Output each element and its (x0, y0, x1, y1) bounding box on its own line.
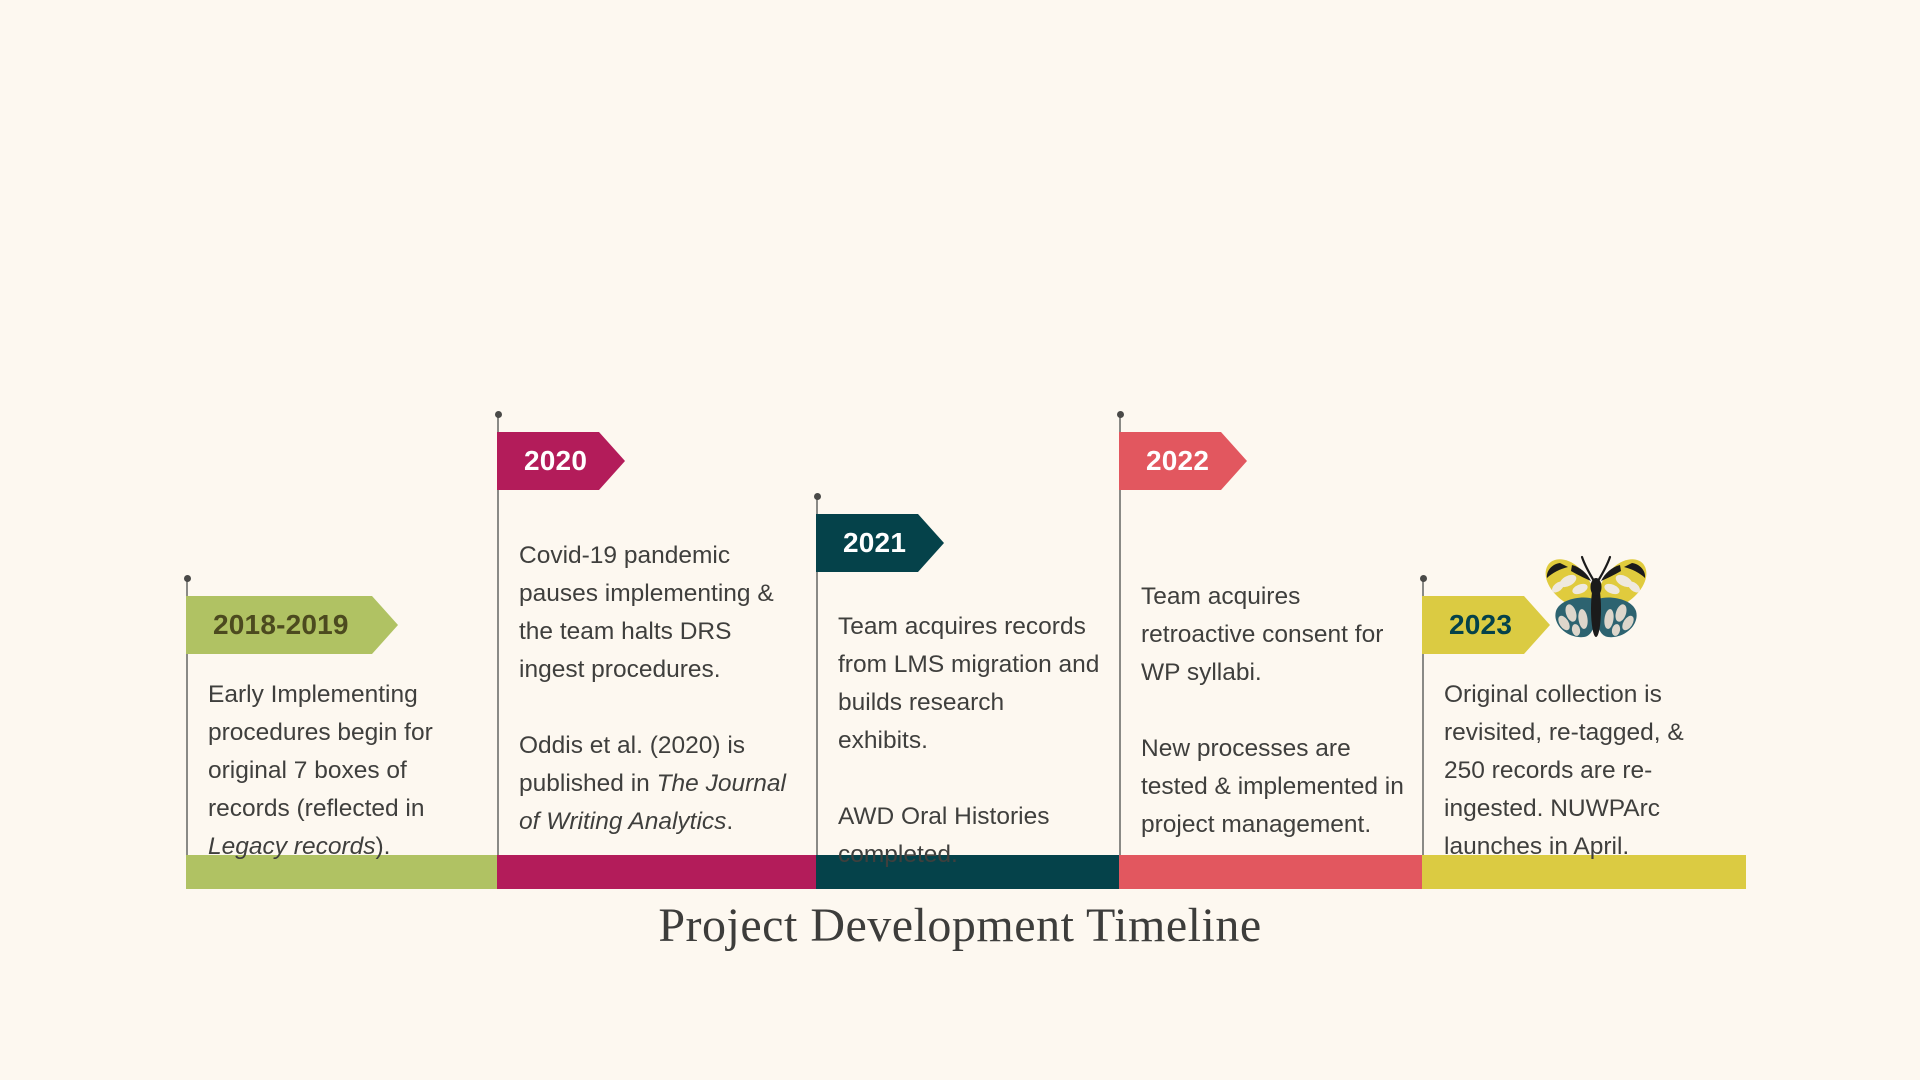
year-banner-2021: 2021 (816, 514, 944, 572)
year-label: 2021 (843, 527, 906, 559)
timeline-paragraph: Early Implementing procedures begin for … (208, 676, 480, 866)
timeline-tick-dot (1117, 411, 1124, 418)
column-body-text: Team acquires retroactive consent for WP… (1141, 578, 1419, 844)
year-label: 2018-2019 (213, 609, 349, 641)
year-label: 2020 (524, 445, 587, 477)
timeline-paragraph: Original collection is revisited, re-tag… (1444, 676, 1726, 866)
column-body-text: Original collection is revisited, re-tag… (1444, 676, 1726, 866)
year-banner-2023: 2023 (1422, 596, 1550, 654)
timeline-paragraph: Team acquires retroactive consent for WP… (1141, 578, 1419, 692)
year-banner-2020: 2020 (497, 432, 625, 490)
timeline-tick-dot (814, 493, 821, 500)
timeline-paragraph: Team acquires records from LMS migration… (838, 608, 1100, 760)
butterfly-icon (1538, 551, 1654, 647)
year-banner-2022: 2022 (1119, 432, 1247, 490)
timeline-tick-dot (184, 575, 191, 582)
page-title: Project Development Timeline (0, 898, 1920, 953)
timeline-paragraph: New processes are tested & implemented i… (1141, 730, 1419, 844)
timeline-paragraph: Oddis et al. (2020) is published in The … (519, 727, 791, 841)
column-body-text: Covid-19 pandemic pauses implementing & … (519, 537, 791, 841)
timeline-paragraph: AWD Oral Histories completed. (838, 798, 1100, 874)
timeline-tick-dot (1420, 575, 1427, 582)
year-label: 2023 (1449, 609, 1512, 641)
year-banner-2018-2019: 2018-2019 (186, 596, 398, 654)
timeline-tick-dot (495, 411, 502, 418)
italic-title: The Journal of Writing Analytics (519, 770, 786, 835)
color-bar-segment-2020 (497, 855, 816, 889)
timeline-paragraph: Covid-19 pandemic pauses implementing & … (519, 537, 791, 689)
timeline-infographic: Project Development Timeline 2018-2019Ea… (0, 0, 1920, 1080)
year-label: 2022 (1146, 445, 1209, 477)
italic-title: Legacy records (208, 833, 376, 860)
column-body-text: Early Implementing procedures begin for … (208, 676, 480, 866)
color-bar-segment-2022 (1119, 855, 1422, 889)
column-body-text: Team acquires records from LMS migration… (838, 608, 1100, 874)
